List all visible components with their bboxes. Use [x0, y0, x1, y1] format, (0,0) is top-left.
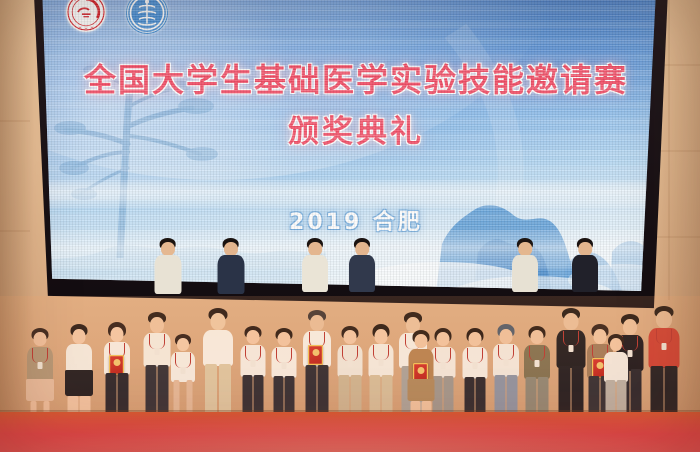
head — [563, 313, 578, 330]
head — [578, 242, 592, 256]
head — [246, 330, 259, 344]
head — [355, 242, 369, 256]
id-badge — [472, 362, 477, 369]
skirt — [26, 379, 54, 401]
event-year-city: 2019 合肥 — [36, 212, 656, 234]
person-back-row — [510, 238, 540, 292]
id-badge — [250, 360, 255, 367]
torso — [203, 330, 233, 366]
head — [436, 332, 449, 346]
award-plaque — [308, 345, 323, 365]
lanyard — [656, 329, 672, 344]
cloud-band — [36, 178, 656, 208]
university-seal-logo — [66, 0, 106, 32]
head — [414, 334, 427, 348]
id-badge — [535, 360, 540, 367]
head — [150, 317, 164, 333]
head — [343, 330, 356, 344]
lanyard — [245, 346, 261, 361]
ceremony-photo: 全国大学生基础医学实验技能邀请赛 颁奖典礼 2019 合肥 — [0, 0, 700, 452]
torso — [604, 352, 628, 382]
head — [610, 338, 622, 351]
lanyard — [373, 345, 389, 360]
id-badge — [347, 360, 352, 367]
head — [277, 332, 290, 346]
lanyard — [149, 334, 165, 349]
head — [160, 242, 174, 256]
person-back-row — [570, 238, 600, 292]
person-back-row — [215, 238, 246, 294]
skirt — [65, 370, 93, 396]
award-plaque — [109, 355, 124, 375]
head — [177, 338, 189, 351]
torso — [302, 255, 328, 292]
head — [518, 242, 532, 256]
lanyard — [498, 345, 514, 360]
person-back-row — [347, 238, 377, 292]
carpet-sheen — [0, 412, 700, 452]
lanyard — [175, 353, 191, 368]
id-badge — [38, 362, 43, 369]
screen-surface: 全国大学生基础医学实验技能邀请赛 颁奖典礼 2019 合肥 — [36, 0, 656, 294]
torso — [217, 255, 244, 294]
head — [500, 329, 513, 344]
head — [34, 332, 47, 346]
id-badge — [281, 362, 286, 369]
id-badge — [378, 359, 383, 366]
event-title-line1: 全国大学生基础医学实验技能邀请赛 — [36, 64, 656, 96]
head — [73, 329, 86, 344]
id-badge — [440, 362, 445, 369]
head — [211, 313, 226, 330]
head — [308, 242, 322, 256]
lanyard — [435, 348, 451, 363]
torso — [572, 255, 598, 292]
head — [111, 327, 124, 342]
lanyard — [276, 348, 292, 363]
medical-association-logo — [126, 0, 168, 34]
head — [374, 329, 387, 344]
head — [531, 330, 544, 344]
id-badge — [181, 367, 186, 374]
person-back-row — [152, 238, 183, 294]
torso — [512, 255, 538, 292]
lanyard — [563, 331, 579, 346]
lanyard — [32, 348, 48, 363]
id-badge — [154, 348, 159, 355]
event-title-line2: 颁奖典礼 — [36, 117, 656, 148]
torso — [154, 255, 181, 294]
id-badge — [504, 359, 509, 366]
head — [223, 242, 237, 256]
lanyard — [529, 346, 545, 361]
id-badge — [568, 345, 573, 352]
lanyard — [467, 348, 483, 363]
lanyard — [342, 346, 358, 361]
id-badge — [661, 343, 666, 350]
head — [623, 319, 637, 335]
torso — [349, 255, 375, 292]
head — [656, 311, 672, 328]
head — [468, 332, 481, 346]
skirt — [407, 379, 434, 401]
person-back-row — [300, 238, 330, 292]
head — [310, 315, 324, 331]
